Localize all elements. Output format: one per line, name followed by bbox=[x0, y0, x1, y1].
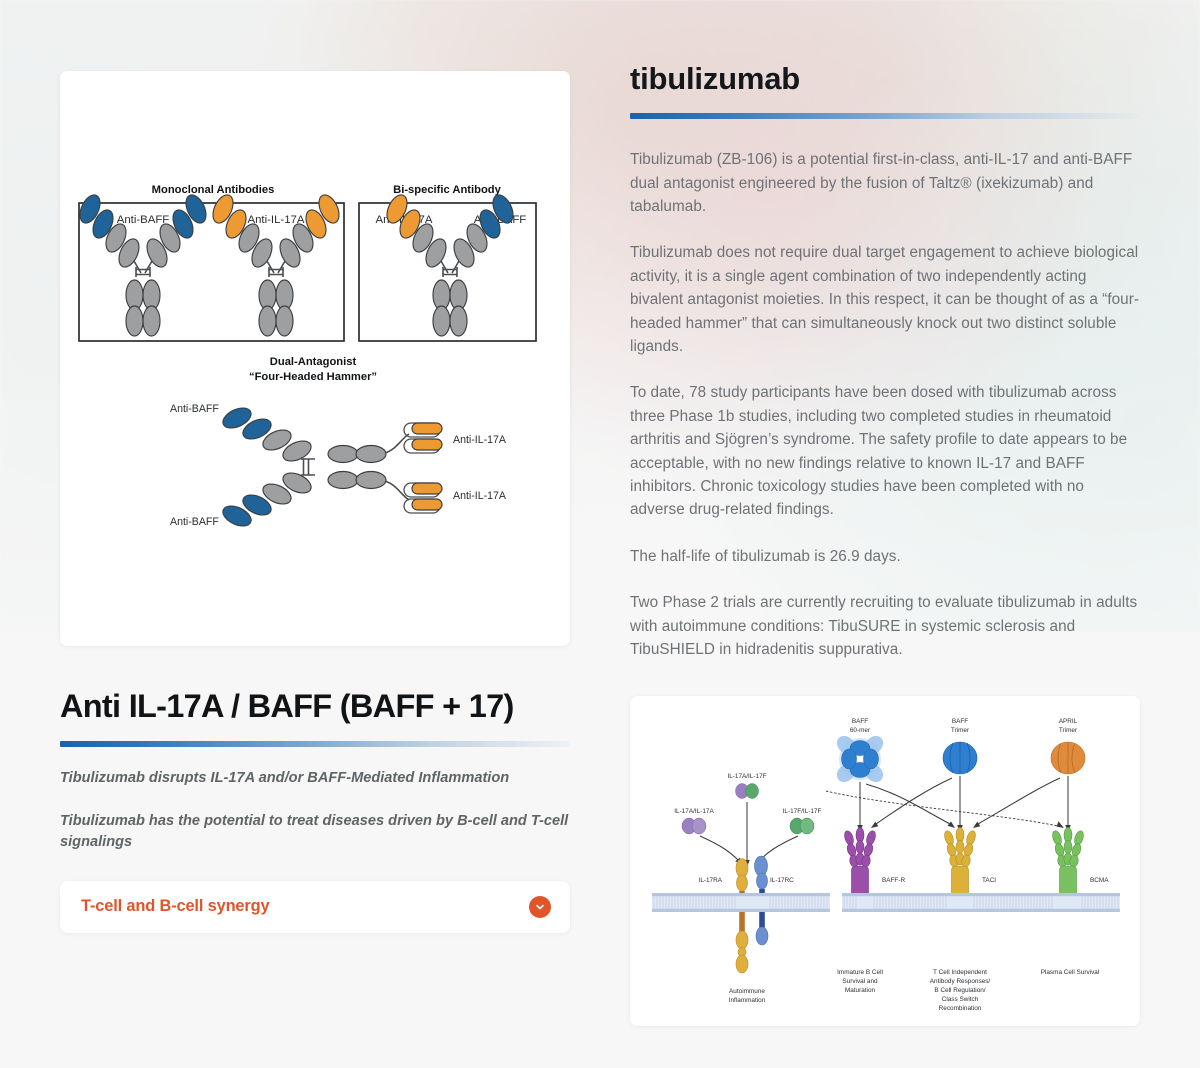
outcome-label-taci-line5: Recombination bbox=[939, 1005, 982, 1012]
accordion-item-tcell-bcell-synergy[interactable]: T-cell and B-cell synergy bbox=[60, 881, 570, 933]
label-anti-baff-upper: Anti-BAFF bbox=[170, 403, 219, 415]
ligand-label-baff-trimer-line2: Trimer bbox=[951, 727, 970, 734]
ligand-label-il17f-il17f: IL-17F/IL-17F bbox=[783, 808, 822, 815]
cell-membrane-right bbox=[842, 893, 1120, 912]
outcome-label-autoimmune-line2: Inflammation bbox=[729, 997, 766, 1004]
hero-paragraph-5: Two Phase 2 trials are currently recruit… bbox=[630, 591, 1140, 661]
receptor-label-il17rc: IL-17RC bbox=[770, 877, 794, 884]
outcome-label-immature-bcell-line1: Immature B Cell bbox=[837, 969, 883, 976]
antibody-four-headed-hammer bbox=[220, 404, 442, 530]
hero-paragraph-4: The half-life of tibulizumab is 26.9 day… bbox=[630, 545, 1140, 568]
outcome-label-taci-line2: Antibody Responses/ bbox=[930, 978, 991, 985]
receptor-label-taci: TACI bbox=[982, 877, 996, 884]
ligand-il17a-il17f bbox=[736, 784, 759, 799]
hero-paragraph-1: Tibulizumab (ZB-106) is a potential firs… bbox=[630, 148, 1140, 218]
antibody-structure-diagram: Monoclonal Antibodies Bi-specific Antibo… bbox=[60, 71, 570, 646]
hero-text-column: tibulizumab Tibulizumab (ZB-106) is a po… bbox=[630, 62, 1140, 661]
label-anti-baff-mab: Anti-BAFF bbox=[117, 214, 170, 226]
hero-paragraph-3: To date, 78 study participants have been… bbox=[630, 381, 1140, 521]
section-lead-1: Tibulizumab disrupts IL-17A and/or BAFF-… bbox=[60, 768, 570, 790]
ligand-baff-trimer bbox=[943, 742, 977, 774]
signaling-pathway-card: IL-17A/IL-17F IL-17A/IL-17A IL-17F/IL-17… bbox=[630, 696, 1140, 1026]
cell-membrane-left bbox=[652, 893, 830, 912]
panel-title-bispecific: Bi-specific Antibody bbox=[393, 184, 502, 196]
panel-title-monoclonal: Monoclonal Antibodies bbox=[152, 184, 275, 196]
signaling-pathway-diagram: IL-17A/IL-17F IL-17A/IL-17A IL-17F/IL-17… bbox=[630, 696, 1140, 1026]
ligand-label-april-trimer-line1: APRIL bbox=[1059, 718, 1078, 725]
ligand-label-baff-trimer-line1: BAFF bbox=[952, 718, 968, 725]
receptor-label-baff-r: BAFF-R bbox=[882, 877, 905, 884]
section-accent-rule bbox=[60, 741, 570, 747]
outcome-label-taci-line3: B Cell Regulation/ bbox=[934, 987, 985, 994]
label-anti-baff-lower: Anti-BAFF bbox=[170, 516, 219, 528]
receptor-il17ra bbox=[736, 859, 748, 974]
dual-panel-title-line2: “Four-Headed Hammer” bbox=[249, 371, 377, 383]
page-title: tibulizumab bbox=[630, 62, 1140, 96]
label-anti-il17a-upper: Anti-IL-17A bbox=[453, 434, 507, 446]
section-lead-2: Tibulizumab has the potential to treat d… bbox=[60, 811, 570, 854]
outcome-label-taci-line4: Class Switch bbox=[942, 996, 979, 1003]
label-anti-il17a-lower: Anti-IL-17A bbox=[453, 490, 507, 502]
outcome-label-autoimmune-line1: Autoimmune bbox=[729, 988, 765, 995]
baff-april-ligand-arrows bbox=[826, 776, 1071, 832]
outcome-label-immature-bcell-line3: Maturation bbox=[845, 987, 876, 994]
outcome-label-immature-bcell-line2: Survival and bbox=[842, 978, 878, 985]
ligand-label-il17a-il17a: IL-17A/IL-17A bbox=[674, 808, 714, 815]
dual-panel-title-line1: Dual-Antagonist bbox=[270, 356, 357, 368]
ligand-label-april-trimer-line2: Trimer bbox=[1059, 727, 1078, 734]
chevron-down-icon[interactable] bbox=[529, 896, 551, 918]
ligand-label-baff-60mer-line1: BAFF bbox=[852, 718, 868, 725]
ligand-april-trimer bbox=[1051, 742, 1085, 774]
section-title: Anti IL-17A / BAFF (BAFF + 17) bbox=[60, 688, 570, 724]
lower-left-section: Anti IL-17A / BAFF (BAFF + 17) Tibulizum… bbox=[60, 688, 570, 933]
outcome-label-plasma-cell-survival: Plasma Cell Survival bbox=[1041, 969, 1100, 976]
ligand-label-il17a-il17f: IL-17A/IL-17F bbox=[727, 773, 766, 780]
ligand-il17a-il17a bbox=[682, 818, 706, 834]
hero-paragraph-2: Tibulizumab does not require dual target… bbox=[630, 241, 1140, 358]
title-accent-rule bbox=[630, 113, 1140, 119]
receptor-label-bcma: BCMA bbox=[1090, 877, 1109, 884]
ligand-baff-60mer bbox=[833, 732, 886, 785]
outcome-label-taci-line1: T Cell Independent bbox=[933, 969, 987, 976]
accordion-label: T-cell and B-cell synergy bbox=[81, 897, 269, 916]
antibody-structure-card: Monoclonal Antibodies Bi-specific Antibo… bbox=[60, 71, 570, 646]
ligand-label-baff-60mer-line2: 60-mer bbox=[850, 727, 871, 734]
ligand-il17f-il17f bbox=[790, 818, 814, 834]
receptor-label-il17ra: IL-17RA bbox=[699, 877, 723, 884]
